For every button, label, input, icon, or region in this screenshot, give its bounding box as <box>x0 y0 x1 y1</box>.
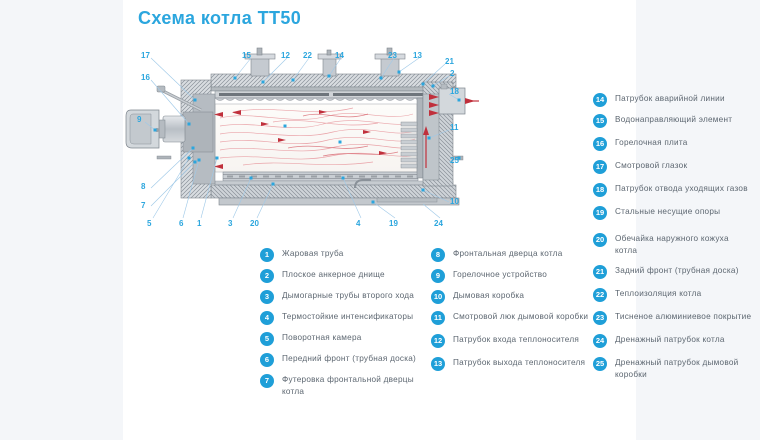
legend-label: Задний фронт (трубная доска) <box>615 265 739 277</box>
legend-item: 12Патрубок входа теплоносителя <box>431 334 591 348</box>
legend-badge: 16 <box>593 137 607 151</box>
legend-badge: 7 <box>260 374 274 388</box>
callout-22: 22 <box>303 52 312 60</box>
callout-12: 12 <box>281 52 290 60</box>
legend-item: 1Жаровая труба <box>260 248 430 262</box>
callout-18: 18 <box>450 88 459 96</box>
legend-label: Горелочная плита <box>615 137 688 149</box>
legend-item: 13Патрубок выхода теплоносителя <box>431 357 591 371</box>
legend-label: Смотровой люк дымовой коробки <box>453 311 588 323</box>
legend-badge: 12 <box>431 334 445 348</box>
legend-badge: 6 <box>260 353 274 367</box>
legend-label: Фронтальная дверца котла <box>453 248 563 260</box>
legend-badge: 11 <box>431 311 445 325</box>
legend-item: 25Дренажный патрубок дымовой коробки <box>593 357 753 380</box>
legend-badge: 10 <box>431 290 445 304</box>
legend-label: Тисненое алюминиевое покрытие <box>615 311 751 323</box>
legend-badge: 23 <box>593 311 607 325</box>
legend-item: 3Дымогарные трубы второго хода <box>260 290 430 304</box>
callout-17: 17 <box>141 52 150 60</box>
callout-25: 25 <box>450 157 459 165</box>
legend-label: Водонаправляющий элемент <box>615 114 732 126</box>
legend-badge: 20 <box>593 233 607 247</box>
legend-column-2: 8Фронтальная дверца котла 9Горелочное ус… <box>431 248 591 378</box>
legend-badge: 2 <box>260 269 274 283</box>
legend-item: 19Стальные несущие опоры <box>593 206 753 220</box>
callout-21: 21 <box>445 58 454 66</box>
legend-column-3: 14Патрубок аварийной линии 15Водонаправл… <box>593 93 753 387</box>
legend-item: 14Патрубок аварийной линии <box>593 93 753 107</box>
legend-label: Передний фронт (трубная доска) <box>282 353 416 365</box>
callout-13: 13 <box>413 52 422 60</box>
callout-7: 7 <box>141 202 145 210</box>
legend-badge: 17 <box>593 160 607 174</box>
legend-item: 24Дренажный патрубок котла <box>593 334 753 348</box>
legend-item: 7Футеровка фронтальной дверцы котла <box>260 374 430 397</box>
legend-item: 23Тисненое алюминиевое покрытие <box>593 311 753 325</box>
callout-10: 10 <box>450 198 459 206</box>
legend-badge: 3 <box>260 290 274 304</box>
legend-item: 17Смотровой глазок <box>593 160 753 174</box>
callout-24: 24 <box>434 220 443 228</box>
legend-label: Дымогарные трубы второго хода <box>282 290 414 302</box>
legend-label: Дренажный патрубок дымовой коробки <box>615 357 753 380</box>
legend-item: 15Водонаправляющий элемент <box>593 114 753 128</box>
legend-item: 6Передний фронт (трубная доска) <box>260 353 430 367</box>
legend-item: 2Плоское анкерное днище <box>260 269 430 283</box>
page-title: Схема котла ТТ50 <box>138 8 301 29</box>
callout-6: 6 <box>179 220 183 228</box>
callout-14: 14 <box>335 52 344 60</box>
legend-label: Патрубок входа теплоносителя <box>453 334 579 346</box>
legend-label: Стальные несущие опоры <box>615 206 720 218</box>
legend-label: Плоское анкерное днище <box>282 269 385 281</box>
legend-badge: 21 <box>593 265 607 279</box>
legend-item: 4Термостойкие интенсификаторы <box>260 311 430 325</box>
legend-label: Патрубок выхода теплоносителя <box>453 357 585 369</box>
legend-label: Дымовая коробка <box>453 290 524 302</box>
callout-5: 5 <box>147 220 151 228</box>
legend-badge: 4 <box>260 311 274 325</box>
legend-badge: 24 <box>593 334 607 348</box>
legend-label: Патрубок аварийной линии <box>615 93 725 105</box>
content-panel: Схема котла ТТ50 <box>123 0 636 440</box>
callout-4: 4 <box>356 220 360 228</box>
legend-badge: 18 <box>593 183 607 197</box>
legend-badge: 8 <box>431 248 445 262</box>
legend-badge: 14 <box>593 93 607 107</box>
legend-label: Жаровая труба <box>282 248 344 260</box>
legend-label: Футеровка фронтальной дверцы котла <box>282 374 430 397</box>
callout-23: 23 <box>388 52 397 60</box>
legend-item: 22Теплоизоляция котла <box>593 288 753 302</box>
legend-item: 20Обечайка наружного кожуха котла <box>593 233 753 256</box>
callout-15: 15 <box>242 52 251 60</box>
legend-badge: 22 <box>593 288 607 302</box>
legend-item: 18Патрубок отвода уходящих газов <box>593 183 753 197</box>
legend-label: Горелочное устройство <box>453 269 547 281</box>
legend-badge: 15 <box>593 114 607 128</box>
legend-label: Поворотная камера <box>282 332 362 344</box>
legend-item: 9Горелочное устройство <box>431 269 591 283</box>
legend-badge: 19 <box>593 206 607 220</box>
legend-label: Дренажный патрубок котла <box>615 334 725 346</box>
legend-item: 21Задний фронт (трубная доска) <box>593 265 753 279</box>
callout-11: 11 <box>450 124 458 132</box>
legend-item: 8Фронтальная дверца котла <box>431 248 591 262</box>
legend-badge: 13 <box>431 357 445 371</box>
callout-19: 19 <box>389 220 398 228</box>
legend-badge: 5 <box>260 332 274 346</box>
callout-8: 8 <box>141 183 145 191</box>
legend-item: 5Поворотная камера <box>260 332 430 346</box>
legend-badge: 1 <box>260 248 274 262</box>
legend-label: Патрубок отвода уходящих газов <box>615 183 748 195</box>
legend-column-1: 1Жаровая труба 2Плоское анкерное днище 3… <box>260 248 430 404</box>
legend-badge: 25 <box>593 357 607 371</box>
callout-16: 16 <box>141 74 150 82</box>
legend-label: Термостойкие интенсификаторы <box>282 311 413 323</box>
legend-item: 11Смотровой люк дымовой коробки <box>431 311 591 325</box>
legend-label: Теплоизоляция котла <box>615 288 701 300</box>
callout-1: 1 <box>197 220 201 228</box>
legend-item: 10Дымовая коробка <box>431 290 591 304</box>
boiler-diagram: 17 16 9 15 12 22 14 23 13 21 2 18 11 25 … <box>123 38 636 233</box>
legend-label: Смотровой глазок <box>615 160 687 172</box>
legend-label: Обечайка наружного кожуха котла <box>615 233 753 256</box>
legend-item: 16Горелочная плита <box>593 137 753 151</box>
callout-9: 9 <box>137 116 141 124</box>
callout-2: 2 <box>450 70 454 78</box>
callout-20: 20 <box>250 220 259 228</box>
legend-badge: 9 <box>431 269 445 283</box>
callout-3: 3 <box>228 220 232 228</box>
